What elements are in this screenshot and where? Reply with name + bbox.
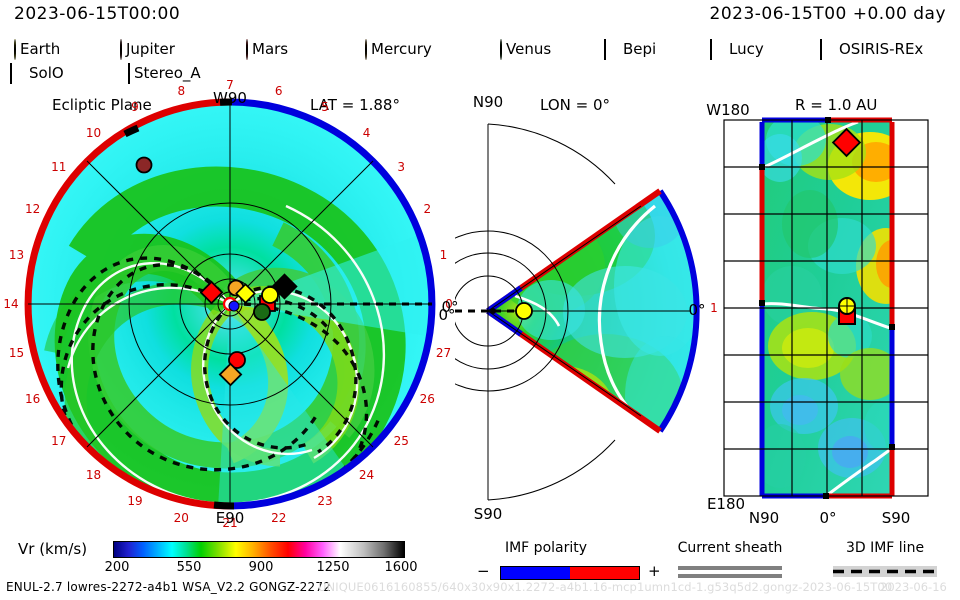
bepi-marker-icon [604,39,606,60]
mars-marker-icon [246,39,248,60]
legend-item-mercury: Mercury [365,38,432,60]
ecliptic-hour-tick-18: 18 [86,468,101,482]
map-axis-lon-zero: 0° [819,509,836,527]
legend-item-jupiter: Jupiter [120,38,175,60]
meridional-plane-plot[interactable]: N90 S90 0° 0° [455,96,700,526]
colorbar-gradient [114,542,404,557]
map-axis-n90: N90 [749,509,779,527]
imf-line-title: 3D IMF line [846,540,924,556]
imf-negative-swatch [501,567,570,579]
earth-marker-icon [14,39,16,60]
ecliptic-hour-tick-27: 27 [436,346,451,360]
ecliptic-hour-tick-24: 24 [359,468,374,482]
jupiter-marker-icon [120,39,122,60]
ecliptic-hour-tick-17: 17 [51,434,66,448]
osiris-rex-marker-icon [820,39,822,60]
ecliptic-hour-tick-6: 6 [275,84,283,98]
ecliptic-hour-tick-25: 25 [394,434,409,448]
legend-item-solo: SolO [10,62,64,84]
imf-polarity-minus: − [477,562,490,580]
colorbar-ticks: 200 550 900 1250 1600 [113,560,405,576]
imf-line-swatch [833,566,937,577]
current-sheath-swatch [678,566,782,578]
current-sheath-title: Current sheath [678,540,783,556]
colorbar-tick-2: 900 [249,560,274,575]
ecliptic-hour-tick-1: 1 [440,248,448,262]
legend-label-solo: SolO [29,64,64,82]
run-watermark: UNIQUE0616160855/640x30x90x1.2272-a4b1.1… [318,580,892,594]
map-axis-ytick-1: 1 [710,301,718,315]
imf-polarity-plus: + [648,562,661,580]
ecliptic-hour-tick-5: 5 [321,100,329,114]
forecast-start-datetime: 2023-06-15T00:00 [14,4,180,24]
run-watermark-date: 2023-06-16 [880,580,947,594]
venus-marker-icon [500,39,502,60]
ecliptic-hour-tick-26: 26 [420,392,435,406]
legend-label-mars: Mars [252,40,288,58]
imf-polarity-bar [500,566,640,580]
legend-item-stereo-a: Stereo_A [128,62,201,84]
legend-item-venus: Venus [500,38,551,60]
colorbar-title: Vr (km/s) [18,540,87,558]
model-run-id: ENUL-2.7 lowres-2272-a4b1 WSA_V2.2 GONGZ… [6,580,331,594]
ecliptic-hour-tick-4: 4 [363,126,371,140]
colorbar-tick-4: 1600 [384,560,417,575]
ecliptic-hour-tick-8: 8 [177,84,185,98]
imf-line-dashes [833,566,937,577]
lucy-marker-icon [710,39,712,60]
ecliptic-hour-tick-9: 9 [131,100,139,114]
imf-polarity-title: IMF polarity [505,540,587,556]
ecliptic-plane-plot[interactable]: 0123456789101112131415161718192021222324… [8,96,468,526]
map-svg [700,96,956,526]
meridional-marker-earth [516,303,532,319]
ecliptic-hour-tick-16: 16 [25,392,40,406]
ecliptic-axis-e90: E90 [216,509,245,527]
colorbar-tick-3: 1250 [316,560,349,575]
legend-item-lucy: Lucy [710,38,764,60]
radius-1au-map-plot[interactable]: W180 E180 N90 0° S90 1 [700,96,956,526]
ecliptic-hour-tick-20: 20 [174,511,189,525]
ecliptic-hour-tick-12: 12 [25,202,40,216]
colorbar-tick-1: 550 [177,560,202,575]
ecliptic-hour-tick-11: 11 [51,160,66,174]
ecliptic-hour-tick-2: 2 [423,202,431,216]
ecliptic-hour-tick-22: 22 [271,511,286,525]
colorbar-tick-0: 200 [105,560,130,575]
meridional-axis-left-zero: 0° [438,306,455,324]
legend-label-osiris-rex: OSIRIS-REx [839,40,923,58]
meridional-axis-n90: N90 [473,93,503,111]
map-axis-w180: W180 [706,101,749,119]
legend-label-bepi: Bepi [623,40,656,58]
legend-label-venus: Venus [506,40,551,58]
meridional-axis-s90: S90 [474,505,503,523]
stereo-a-marker-icon [128,63,130,84]
forecast-valid-datetime: 2023-06-15T00 +0.00 day [710,4,946,24]
legend-item-bepi: Bepi [604,38,656,60]
ecliptic-hour-tick-3: 3 [397,160,405,174]
legend-item-mars: Mars [246,38,288,60]
ecliptic-hour-tick-14: 14 [3,297,18,311]
solo-marker-icon [10,63,12,84]
solar-wind-forecast-page: 2023-06-15T00:00 2023-06-15T00 +0.00 day… [0,0,960,600]
ecliptic-hour-tick-15: 15 [9,346,24,360]
map-axis-e180: E180 [707,495,745,513]
legend-item-earth: Earth [14,38,60,60]
mercury-marker-icon [365,39,367,60]
legend-label-mercury: Mercury [371,40,432,58]
ecliptic-hour-tick-13: 13 [9,248,24,262]
imf-positive-swatch [570,567,639,579]
ecliptic-hour-tick-10: 10 [86,126,101,140]
meridional-svg [455,96,700,526]
vr-colorbar [113,541,405,558]
ecliptic-hour-tick-23: 23 [317,494,332,508]
legend-label-stereo-a: Stereo_A [134,64,201,82]
ecliptic-marker-earth [262,287,278,303]
ecliptic-axis-w90: W90 [213,89,247,107]
ecliptic-marker-venus [254,304,270,320]
legend-label-jupiter: Jupiter [126,40,175,58]
legend-label-lucy: Lucy [729,40,764,58]
map-axis-s90: S90 [882,509,911,527]
legend-label-earth: Earth [20,40,60,58]
legend-item-osiris-rex: OSIRIS-REx [820,38,923,60]
ecliptic-hour-tick-19: 19 [127,494,142,508]
ecliptic-marker-jupiter [137,158,152,173]
